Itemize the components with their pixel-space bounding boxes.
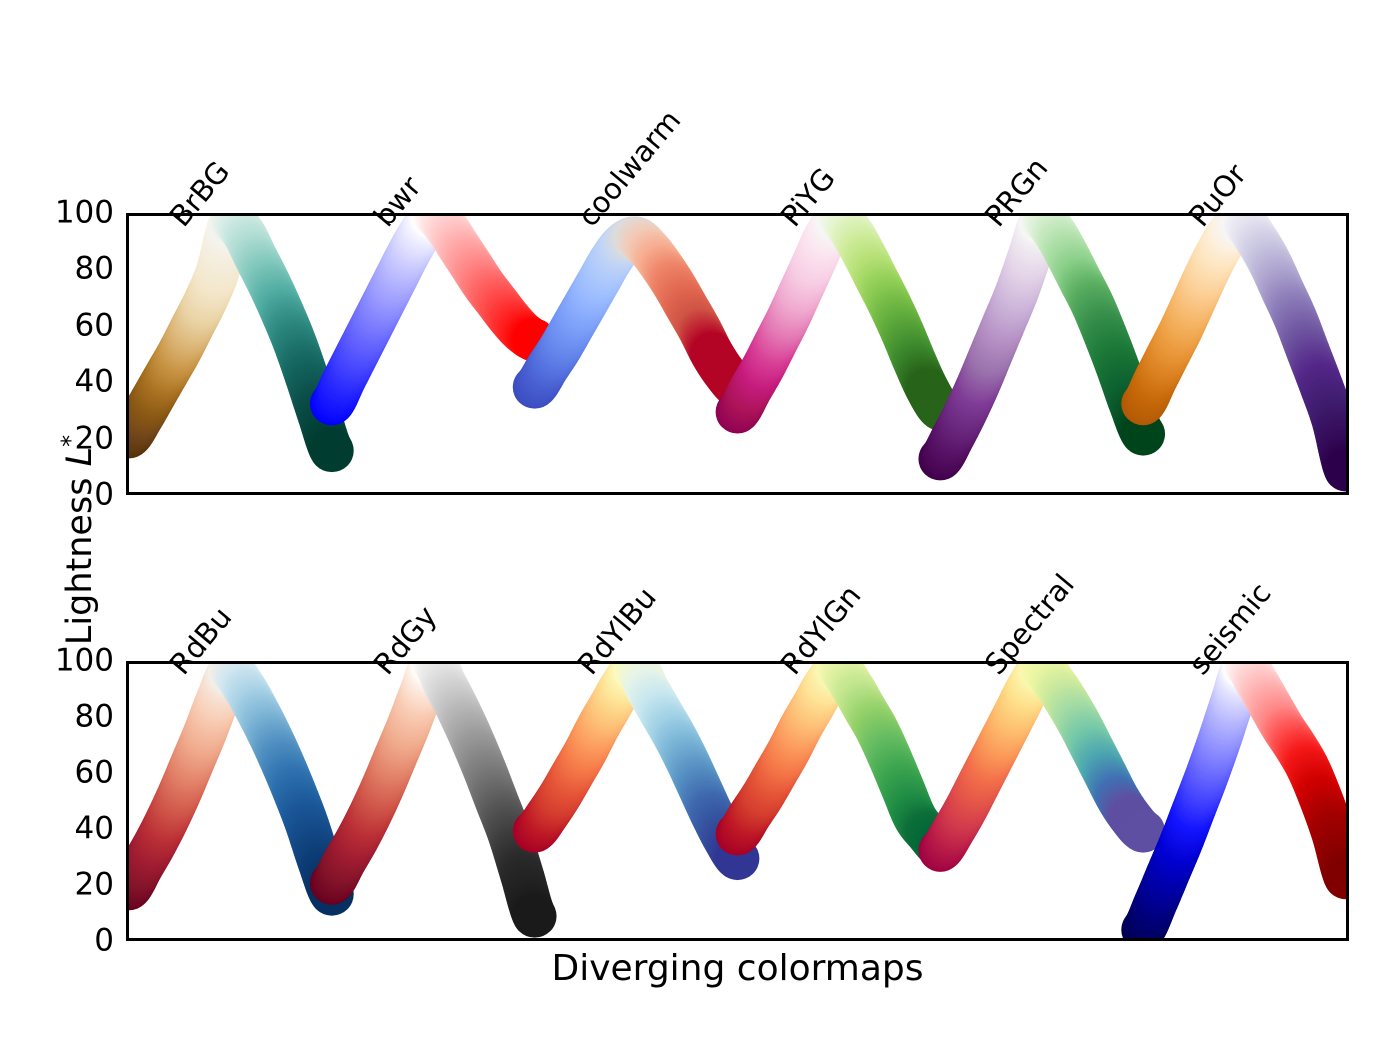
cmap-curve-PRGn	[918, 216, 1165, 480]
cmap-curve-BrBG	[129, 216, 354, 472]
cmap-curve-Spectral	[918, 664, 1165, 872]
cmap-curve-RdGy	[310, 664, 557, 938]
y-tick-label: 40	[18, 814, 114, 845]
cmap-curve-PiYG	[716, 216, 963, 433]
x-axis-label: Diverging colormaps	[126, 948, 1349, 989]
y-tick-label: 60	[18, 758, 114, 789]
y-tick-label: 60	[18, 310, 114, 341]
plot-area-top	[129, 216, 1346, 492]
axes-top	[126, 213, 1349, 495]
plot-area-bottom	[129, 664, 1346, 938]
cmap-curve-seismic	[1121, 664, 1346, 938]
y-tick-label: 0	[18, 480, 114, 511]
figure-canvas: Lightness L* 100806040200 BrBGbwrcoolwar…	[0, 0, 1400, 1040]
y-tick-label: 20	[18, 423, 114, 454]
y-tick-label: 40	[18, 367, 114, 398]
y-tick-label: 100	[18, 198, 114, 229]
y-tick-label: 100	[18, 646, 114, 677]
y-tick-label: 20	[18, 870, 114, 901]
axes-bottom	[126, 661, 1349, 941]
y-tick-label: 80	[18, 254, 114, 285]
y-tick-label: 0	[18, 926, 114, 957]
y-tick-label: 80	[18, 702, 114, 733]
cmap-curve-coolwarm	[513, 216, 760, 408]
